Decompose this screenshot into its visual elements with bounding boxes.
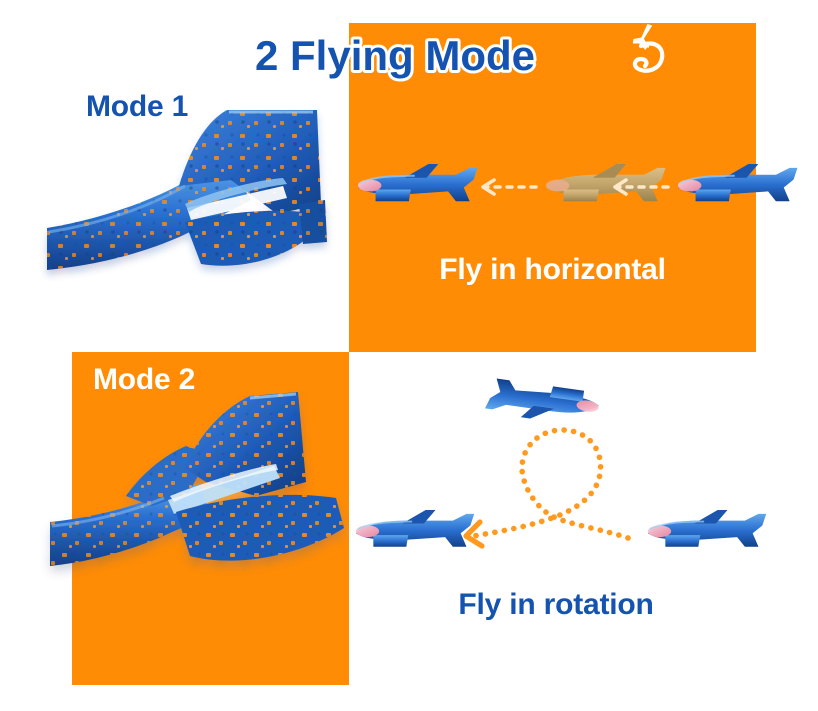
plane-middle-faded [546,164,666,201]
mode-2-glider-photo [60,390,360,590]
mode-1-glider-photo [55,108,340,308]
title-svg: 2 Flying Mode [255,24,615,86]
infographic-stage: 2 Flying Mode Mode 1 [0,0,818,711]
page-title: 2 Flying Mode [255,27,615,82]
plane-right-solid [648,510,766,547]
horizontal-flight-illustration [352,140,754,235]
plane-left-solid [358,164,478,201]
dashed-arrow-1 [483,180,536,194]
airplane-loop-icon [609,24,669,86]
plane-inverted-top [484,377,600,427]
plane-left-solid [356,510,474,547]
mode-1-caption: Fly in horizontal [349,253,756,287]
mode-2-caption: Fly in rotation [356,588,756,622]
dotted-loop-path [474,430,628,538]
plane-right-solid [678,164,798,201]
page-title-text: 2 Flying Mode [255,32,535,79]
rotation-flight-illustration [356,388,756,573]
